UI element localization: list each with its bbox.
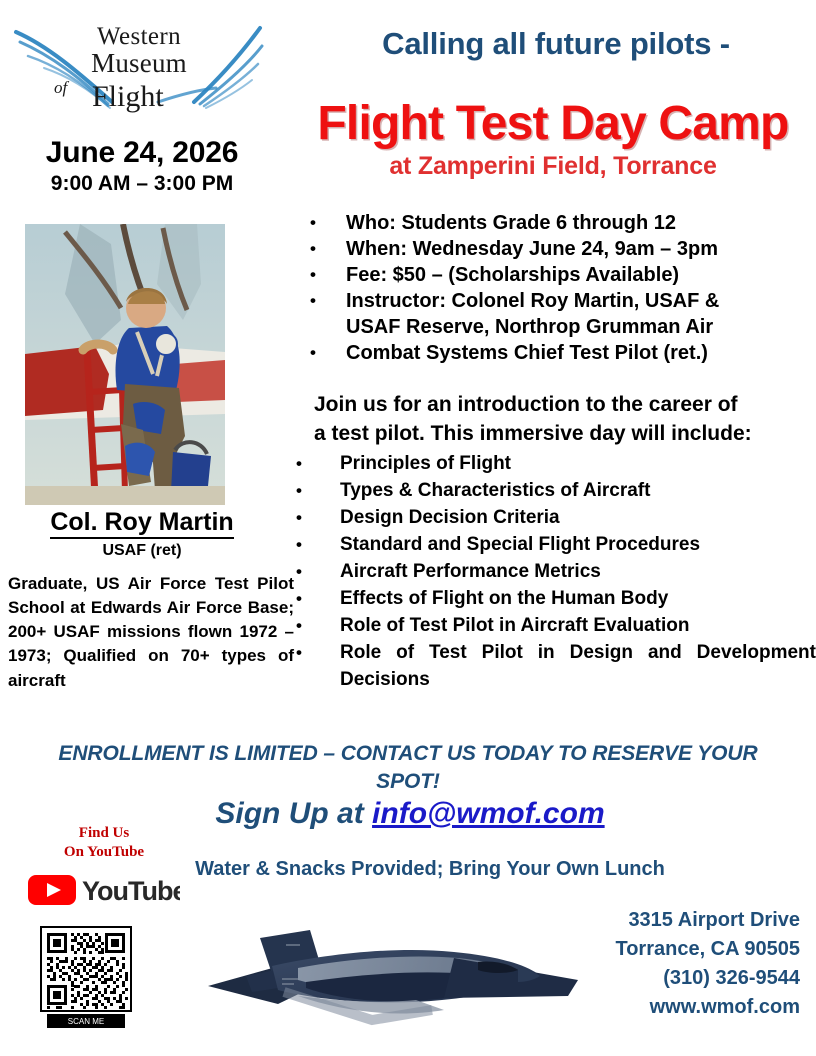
list-item: •Principles of Flight (296, 450, 816, 477)
list-item: •When: Wednesday June 24, 9am – 3pm (310, 236, 816, 262)
headline-subtitle: at Zamperini Field, Torrance (290, 152, 816, 181)
contact-phone[interactable]: (310) 326-9544 (556, 964, 800, 993)
intro-paragraph: Join us for an introduction to the caree… (300, 390, 816, 448)
signup-line: Sign Up at info@wmof.com (180, 797, 640, 831)
bullet-icon: • (310, 262, 316, 288)
bullet-icon: • (310, 236, 316, 262)
provisions-note: Water & Snacks Provided; Bring Your Own … (180, 858, 680, 881)
flyer-page: Western Museum of Flight June 24, 2026 9… (0, 0, 816, 1056)
bullet-icon: • (296, 504, 302, 531)
fighter-jet-image (186, 900, 586, 1050)
list-item: •Standard and Special Flight Procedures (296, 531, 816, 558)
contact-street: 3315 Airport Drive (556, 906, 800, 935)
signup-prefix: Sign Up at (215, 797, 372, 830)
list-item: •Combat Systems Chief Test Pilot (ret.) (310, 340, 816, 366)
bullet-icon: • (310, 340, 316, 366)
find-us-line2: On YouTube (28, 843, 180, 862)
contact-website[interactable]: www.wmof.com (556, 993, 800, 1022)
bullet-icon: • (296, 558, 302, 585)
bullet-icon: • (296, 531, 302, 558)
page-title: Flight Test Day Camp (290, 96, 816, 151)
list-item: •Effects of Flight on the Human Body (296, 585, 816, 612)
youtube-play-icon (28, 875, 76, 905)
bullet-icon: • (296, 477, 302, 504)
event-date: June 24, 2026 (8, 136, 276, 170)
list-item: •Aircraft Performance Metrics (296, 558, 816, 585)
logo-line-flight: Flight (92, 82, 164, 112)
instructor-name: Col. Roy Martin (8, 508, 276, 537)
logo-line-western: Western (8, 24, 270, 49)
bullet-icon: • (310, 210, 316, 236)
bullet-icon: • (296, 450, 302, 477)
bullet-icon: • (296, 639, 302, 666)
qr-code[interactable]: SCAN ME (38, 924, 134, 1030)
svg-text:YouTube: YouTube (82, 876, 180, 906)
list-item-continuation: USAF Reserve, Northrop Grumman Air (310, 314, 816, 340)
bullet-icon: • (310, 288, 316, 314)
bullet-icon: • (296, 612, 302, 639)
list-item: •Role of Test Pilot in Design and Develo… (296, 639, 816, 693)
list-item: •Role of Test Pilot in Aircraft Evaluati… (296, 612, 816, 639)
find-us-on-youtube-label: Find Us On YouTube (28, 824, 180, 862)
logo-line-museum: Museum (8, 50, 270, 77)
scan-me-label: SCAN ME (68, 1017, 104, 1026)
event-facts-list: •Who: Students Grade 6 through 12 •When:… (310, 210, 816, 366)
find-us-line1: Find Us (28, 824, 180, 843)
enrollment-notice: ENROLLMENT IS LIMITED – CONTACT US TODAY… (30, 740, 786, 796)
signup-email-link[interactable]: info@wmof.com (372, 797, 605, 830)
museum-logo: Western Museum of Flight (8, 6, 270, 116)
curriculum-list: •Principles of Flight •Types & Character… (296, 450, 816, 693)
list-item: •Instructor: Colonel Roy Martin, USAF & (310, 288, 816, 314)
contact-city: Torrance, CA 90505 (556, 935, 800, 964)
bullet-icon: • (296, 585, 302, 612)
event-time: 9:00 AM – 3:00 PM (8, 172, 276, 196)
intro-line-1: Join us for an introduction to the caree… (300, 390, 816, 419)
logo-line-of: of (54, 79, 67, 96)
youtube-logo[interactable]: YouTube (28, 872, 180, 908)
list-item: •Design Decision Criteria (296, 504, 816, 531)
instructor-photo (25, 224, 225, 505)
list-item: •Fee: $50 – (Scholarships Available) (310, 262, 816, 288)
instructor-rank: USAF (ret) (8, 542, 276, 560)
list-item: •Who: Students Grade 6 through 12 (310, 210, 816, 236)
list-item: •Types & Characteristics of Aircraft (296, 477, 816, 504)
headline-kicker: Calling all future pilots - (296, 26, 816, 62)
intro-line-2: a test pilot. This immersive day will in… (300, 419, 816, 448)
contact-block: 3315 Airport Drive Torrance, CA 90505 (3… (556, 906, 800, 1022)
instructor-bio: Graduate, US Air Force Test Pilot School… (8, 572, 294, 693)
